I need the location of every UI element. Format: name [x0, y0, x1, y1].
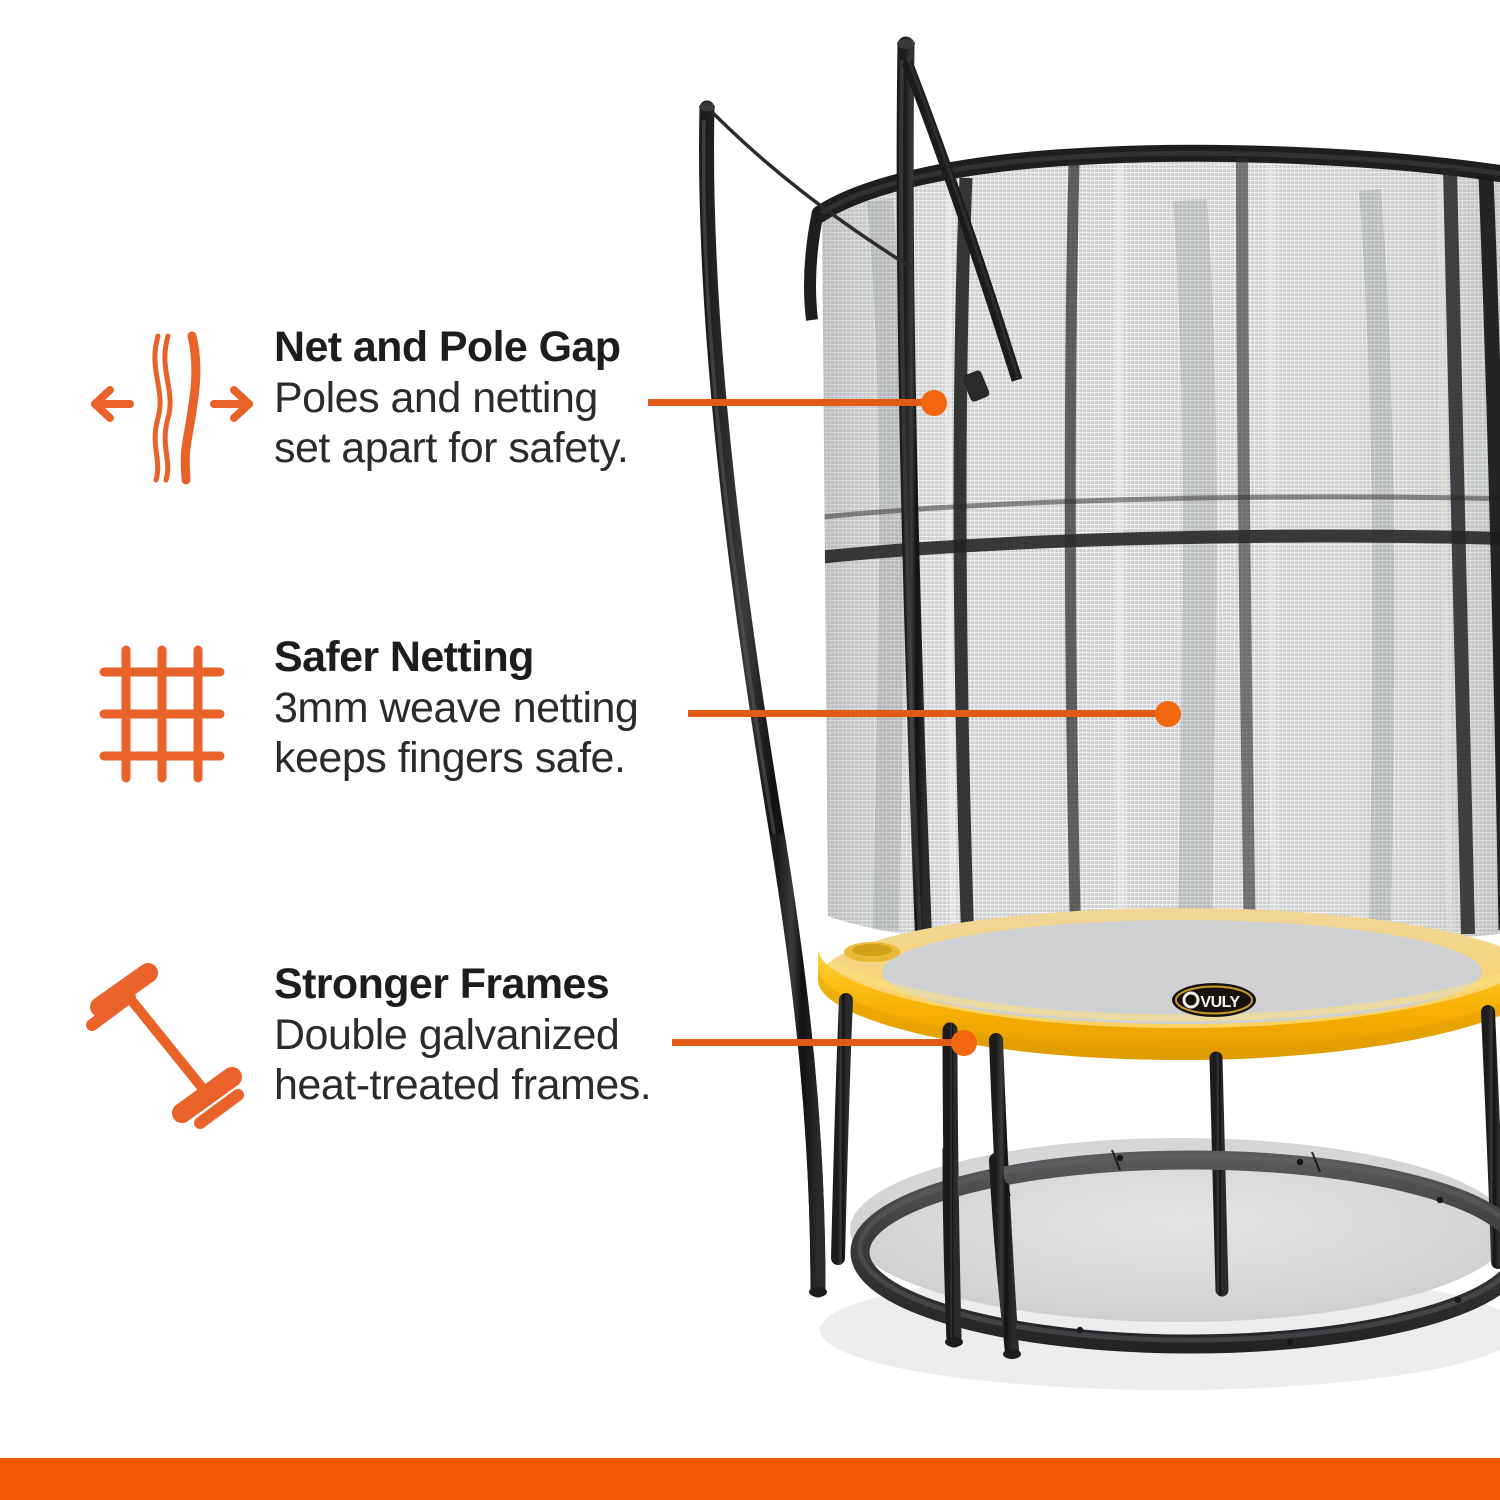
connector-line-0 [648, 399, 938, 406]
feature-item-net-and-pole-gap: Net and Pole Gap Poles and netting set a… [86, 318, 628, 493]
feature-text-2: Stronger Frames Double galvanized heat-t… [256, 955, 651, 1111]
feature-item-stronger-frames: Stronger Frames Double galvanized heat-t… [86, 955, 651, 1130]
connector-dot-1 [1155, 701, 1181, 727]
frame-pad [818, 908, 1500, 1060]
safety-net [790, 140, 1500, 970]
connector-line-2 [672, 1039, 968, 1046]
infographic-canvas: VULY [0, 0, 1500, 1500]
connector-dot-0 [921, 390, 947, 416]
feature-text-0: Net and Pole Gap Poles and netting set a… [256, 318, 628, 474]
brand-badge: VULY [1172, 983, 1256, 1017]
feature-text-1: Safer Netting 3mm weave netting keeps fi… [256, 628, 638, 784]
connector-line-1 [688, 710, 1172, 717]
svg-text:VULY: VULY [1200, 994, 1240, 1011]
dumbbell-icon [86, 955, 256, 1130]
feature-description-1: 3mm weave netting keeps fingers safe. [274, 684, 638, 784]
feature-title-2: Stronger Frames [274, 961, 651, 1007]
feature-description-0: Poles and netting set apart for safety. [274, 374, 628, 474]
feature-description-2: Double galvanized heat-treated frames. [274, 1011, 651, 1111]
feature-item-safer-netting: Safer Netting 3mm weave netting keeps fi… [86, 628, 638, 803]
bottom-accent-bar [0, 1458, 1500, 1500]
feature-title-0: Net and Pole Gap [274, 324, 628, 370]
feature-title-1: Safer Netting [274, 634, 638, 680]
mesh-grid-icon [86, 628, 256, 803]
enclosure-pole-left [699, 103, 818, 1291]
trampoline-photo: VULY [650, 0, 1500, 1460]
gap-arrows-icon [86, 318, 256, 493]
connector-dot-2 [951, 1030, 977, 1056]
